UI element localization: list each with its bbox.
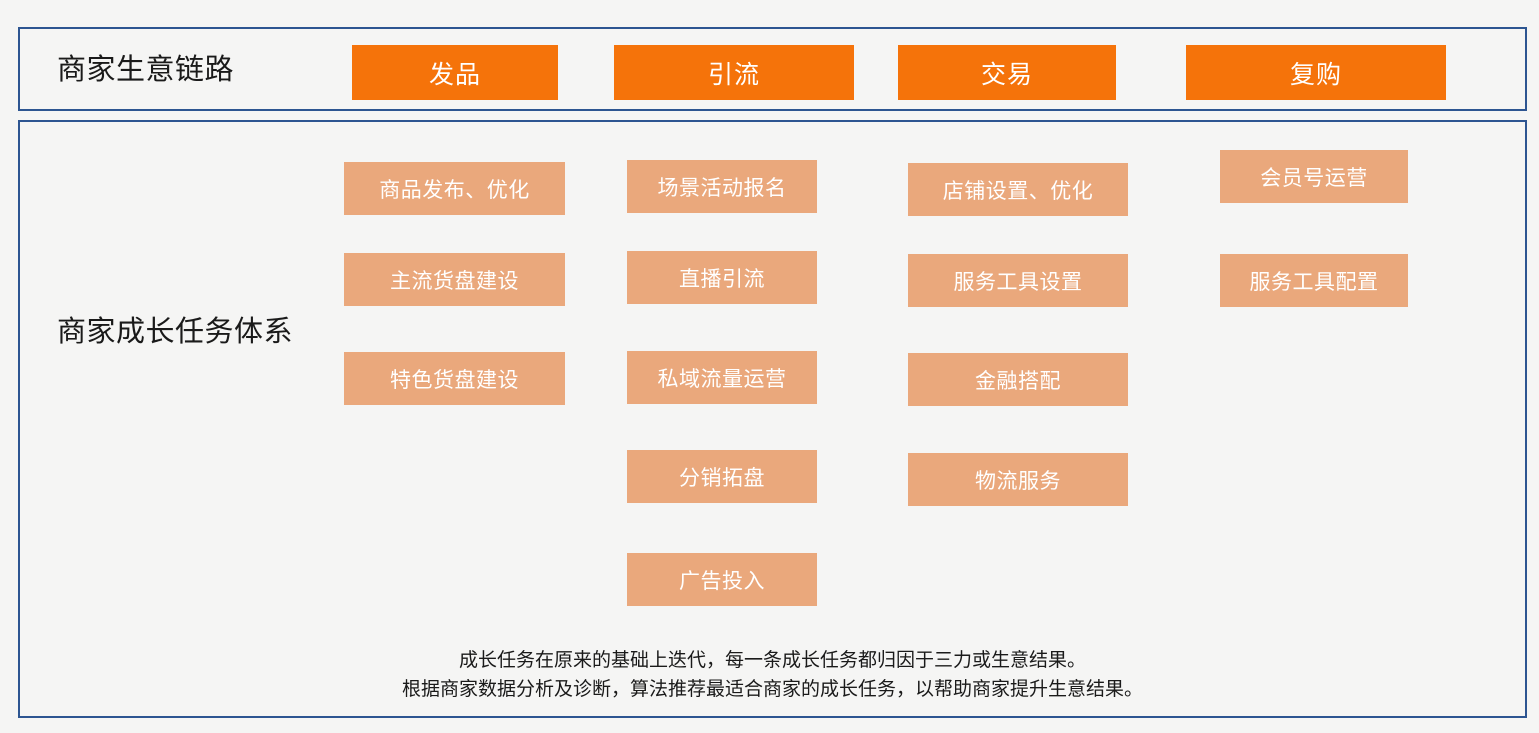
task-card[interactable]: 直播引流 [627, 251, 817, 304]
task-card[interactable]: 特色货盘建设 [344, 352, 565, 405]
diagram-canvas: 商家生意链路 发品 引流 交易 复购 商家成长任务体系 商品发布、优化 主流货盘… [0, 0, 1539, 733]
stage-button-fapin[interactable]: 发品 [352, 45, 558, 100]
caption-line: 成长任务在原来的基础上迭代，每一条成长任务都归因于三力或生意结果。 [18, 646, 1527, 675]
task-card[interactable]: 店铺设置、优化 [908, 163, 1128, 216]
task-card[interactable]: 分销拓盘 [627, 450, 817, 503]
task-card[interactable]: 物流服务 [908, 453, 1128, 506]
task-card[interactable]: 主流货盘建设 [344, 253, 565, 306]
caption-block: 成长任务在原来的基础上迭代，每一条成长任务都归因于三力或生意结果。 根据商家数据… [18, 646, 1527, 704]
stage-button-yinliu[interactable]: 引流 [614, 45, 854, 100]
task-card[interactable]: 场景活动报名 [627, 160, 817, 213]
task-card[interactable]: 商品发布、优化 [344, 162, 565, 215]
task-card[interactable]: 服务工具配置 [1220, 254, 1408, 307]
task-card[interactable]: 广告投入 [627, 553, 817, 606]
caption-line: 根据商家数据分析及诊断，算法推荐最适合商家的成长任务，以帮助商家提升生意结果。 [18, 675, 1527, 704]
stage-button-jiaoyi[interactable]: 交易 [898, 45, 1116, 100]
task-card[interactable]: 金融搭配 [908, 353, 1128, 406]
task-card[interactable]: 会员号运营 [1220, 150, 1408, 203]
stage-button-fugou[interactable]: 复购 [1186, 45, 1446, 100]
task-card[interactable]: 私域流量运营 [627, 351, 817, 404]
task-card[interactable]: 服务工具设置 [908, 254, 1128, 307]
growth-task-label: 商家成长任务体系 [57, 318, 293, 347]
business-chain-label: 商家生意链路 [57, 56, 234, 85]
